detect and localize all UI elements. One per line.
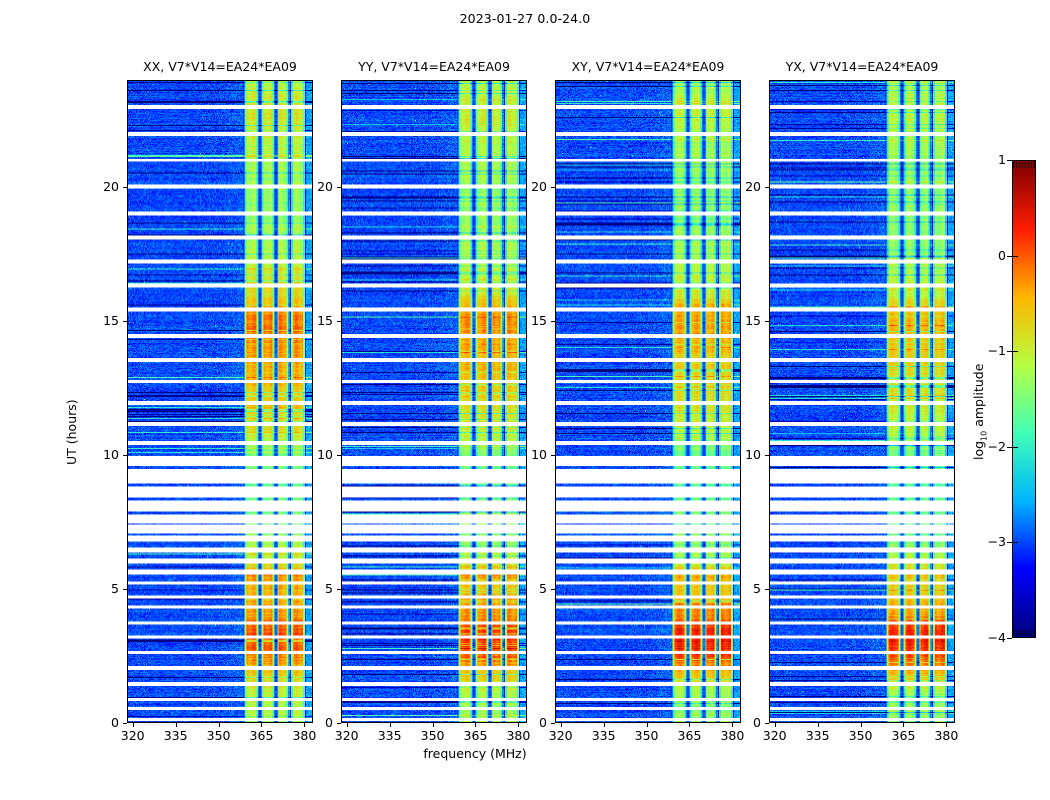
x-tick-label: 380 (926, 728, 966, 743)
y-tick-label: 15 (293, 313, 333, 328)
y-tick-label: 5 (79, 581, 119, 596)
colorbar-label-suffix: amplitude (971, 364, 986, 431)
waterfall-panel-yy[interactable] (341, 80, 527, 723)
y-tickmark (765, 321, 769, 322)
colorbar-tick-label: −4 (972, 630, 1006, 645)
colorbar-tickmark-inner (1012, 351, 1018, 352)
y-tick-label: 15 (79, 313, 119, 328)
x-tick-label: 380 (712, 728, 752, 743)
x-tickmark (475, 723, 476, 727)
x-tick-label: 350 (627, 728, 667, 743)
y-tickmark (765, 187, 769, 188)
y-tick-label: 15 (721, 313, 761, 328)
y-axis-label: UT (hours) (64, 399, 79, 465)
y-tick-label: 10 (293, 447, 333, 462)
colorbar-tickmark-inner (1012, 256, 1018, 257)
y-tick-label: 15 (507, 313, 547, 328)
waterfall-panel-xx[interactable] (127, 80, 313, 723)
x-tickmark (818, 723, 819, 727)
colorbar-tickmark (1007, 160, 1012, 161)
waterfall-image-yy (342, 81, 526, 722)
colorbar (1012, 160, 1036, 638)
colorbar-tickmark-inner (1012, 447, 1018, 448)
x-tickmark (261, 723, 262, 727)
x-tick-label: 320 (327, 728, 367, 743)
y-tickmark (123, 187, 127, 188)
y-tickmark (765, 589, 769, 590)
y-tickmark (551, 187, 555, 188)
x-tick-label: 335 (370, 728, 410, 743)
x-tickmark (219, 723, 220, 727)
colorbar-tick-label: −3 (972, 534, 1006, 549)
y-tick-label: 20 (507, 179, 547, 194)
y-tickmark (765, 723, 769, 724)
x-tick-label: 380 (284, 728, 324, 743)
y-tick-label: 5 (721, 581, 761, 596)
y-tick-label: 20 (293, 179, 333, 194)
y-tick-label: 5 (507, 581, 547, 596)
figure-canvas: 2023-01-27 0.0-24.0 XX, V7*V14=EA24*EA09… (0, 0, 1050, 800)
x-tick-label: 335 (584, 728, 624, 743)
colorbar-tick-label: 0 (972, 248, 1006, 263)
y-tickmark (551, 321, 555, 322)
colorbar-tick-label: 1 (972, 152, 1006, 167)
x-tickmark (561, 723, 562, 727)
y-tick-label: 10 (721, 447, 761, 462)
colorbar-label-text: log (971, 441, 986, 460)
x-tickmark (433, 723, 434, 727)
x-tickmark (647, 723, 648, 727)
y-tickmark (765, 455, 769, 456)
y-tick-label: 0 (507, 715, 547, 730)
y-tickmark (551, 455, 555, 456)
y-tick-label: 0 (79, 715, 119, 730)
x-tick-label: 365 (455, 728, 495, 743)
waterfall-image-xx (128, 81, 312, 722)
x-tick-label: 335 (156, 728, 196, 743)
panel-title-xx: XX, V7*V14=EA24*EA09 (97, 59, 343, 77)
colorbar-under-marker (1013, 630, 1035, 636)
y-tickmark (337, 187, 341, 188)
x-tick-label: 320 (541, 728, 581, 743)
y-tick-label: 0 (721, 715, 761, 730)
waterfall-panel-yx[interactable] (769, 80, 955, 723)
x-tick-label: 365 (669, 728, 709, 743)
x-tick-label: 350 (413, 728, 453, 743)
y-tick-label: 10 (79, 447, 119, 462)
colorbar-label: log10 amplitude (971, 364, 989, 460)
x-tickmark (347, 723, 348, 727)
x-tick-label: 365 (241, 728, 281, 743)
y-tickmark (123, 455, 127, 456)
y-tick-label: 20 (721, 179, 761, 194)
y-tick-label: 20 (79, 179, 119, 194)
x-tick-label: 350 (199, 728, 239, 743)
waterfall-image-yx (770, 81, 954, 722)
colorbar-tickmark-inner (1012, 542, 1018, 543)
x-tick-label: 335 (798, 728, 838, 743)
panel-title-yx: YX, V7*V14=EA24*EA09 (739, 59, 985, 77)
colorbar-over-marker (1013, 162, 1035, 168)
x-tickmark (903, 723, 904, 727)
y-tickmark (123, 723, 127, 724)
colorbar-gradient (1013, 161, 1035, 637)
y-tickmark (551, 723, 555, 724)
x-tickmark (390, 723, 391, 727)
y-tick-label: 5 (293, 581, 333, 596)
y-tickmark (337, 455, 341, 456)
y-tickmark (123, 321, 127, 322)
y-tickmark (337, 321, 341, 322)
waterfall-panel-xy[interactable] (555, 80, 741, 723)
x-tickmark (176, 723, 177, 727)
panel-title-yy: YY, V7*V14=EA24*EA09 (311, 59, 557, 77)
x-tickmark (775, 723, 776, 727)
x-tickmark (861, 723, 862, 727)
y-tick-label: 0 (293, 715, 333, 730)
y-tickmark (337, 723, 341, 724)
colorbar-tick-label: −1 (972, 343, 1006, 358)
x-tickmark (133, 723, 134, 727)
x-tickmark (689, 723, 690, 727)
x-tickmark (946, 723, 947, 727)
y-tick-label: 10 (507, 447, 547, 462)
y-tickmark (337, 589, 341, 590)
x-axis-label: frequency (MHz) (0, 746, 950, 761)
y-tickmark (123, 589, 127, 590)
x-tick-label: 365 (883, 728, 923, 743)
x-tick-label: 380 (498, 728, 538, 743)
colorbar-tickmark (1007, 638, 1012, 639)
x-tickmark (604, 723, 605, 727)
x-tick-label: 350 (841, 728, 881, 743)
panel-title-xy: XY, V7*V14=EA24*EA09 (525, 59, 771, 77)
x-tick-label: 320 (113, 728, 153, 743)
waterfall-image-xy (556, 81, 740, 722)
y-tickmark (551, 589, 555, 590)
x-tick-label: 320 (755, 728, 795, 743)
colorbar-label-subscript: 10 (980, 431, 989, 441)
figure-suptitle: 2023-01-27 0.0-24.0 (0, 11, 1050, 26)
